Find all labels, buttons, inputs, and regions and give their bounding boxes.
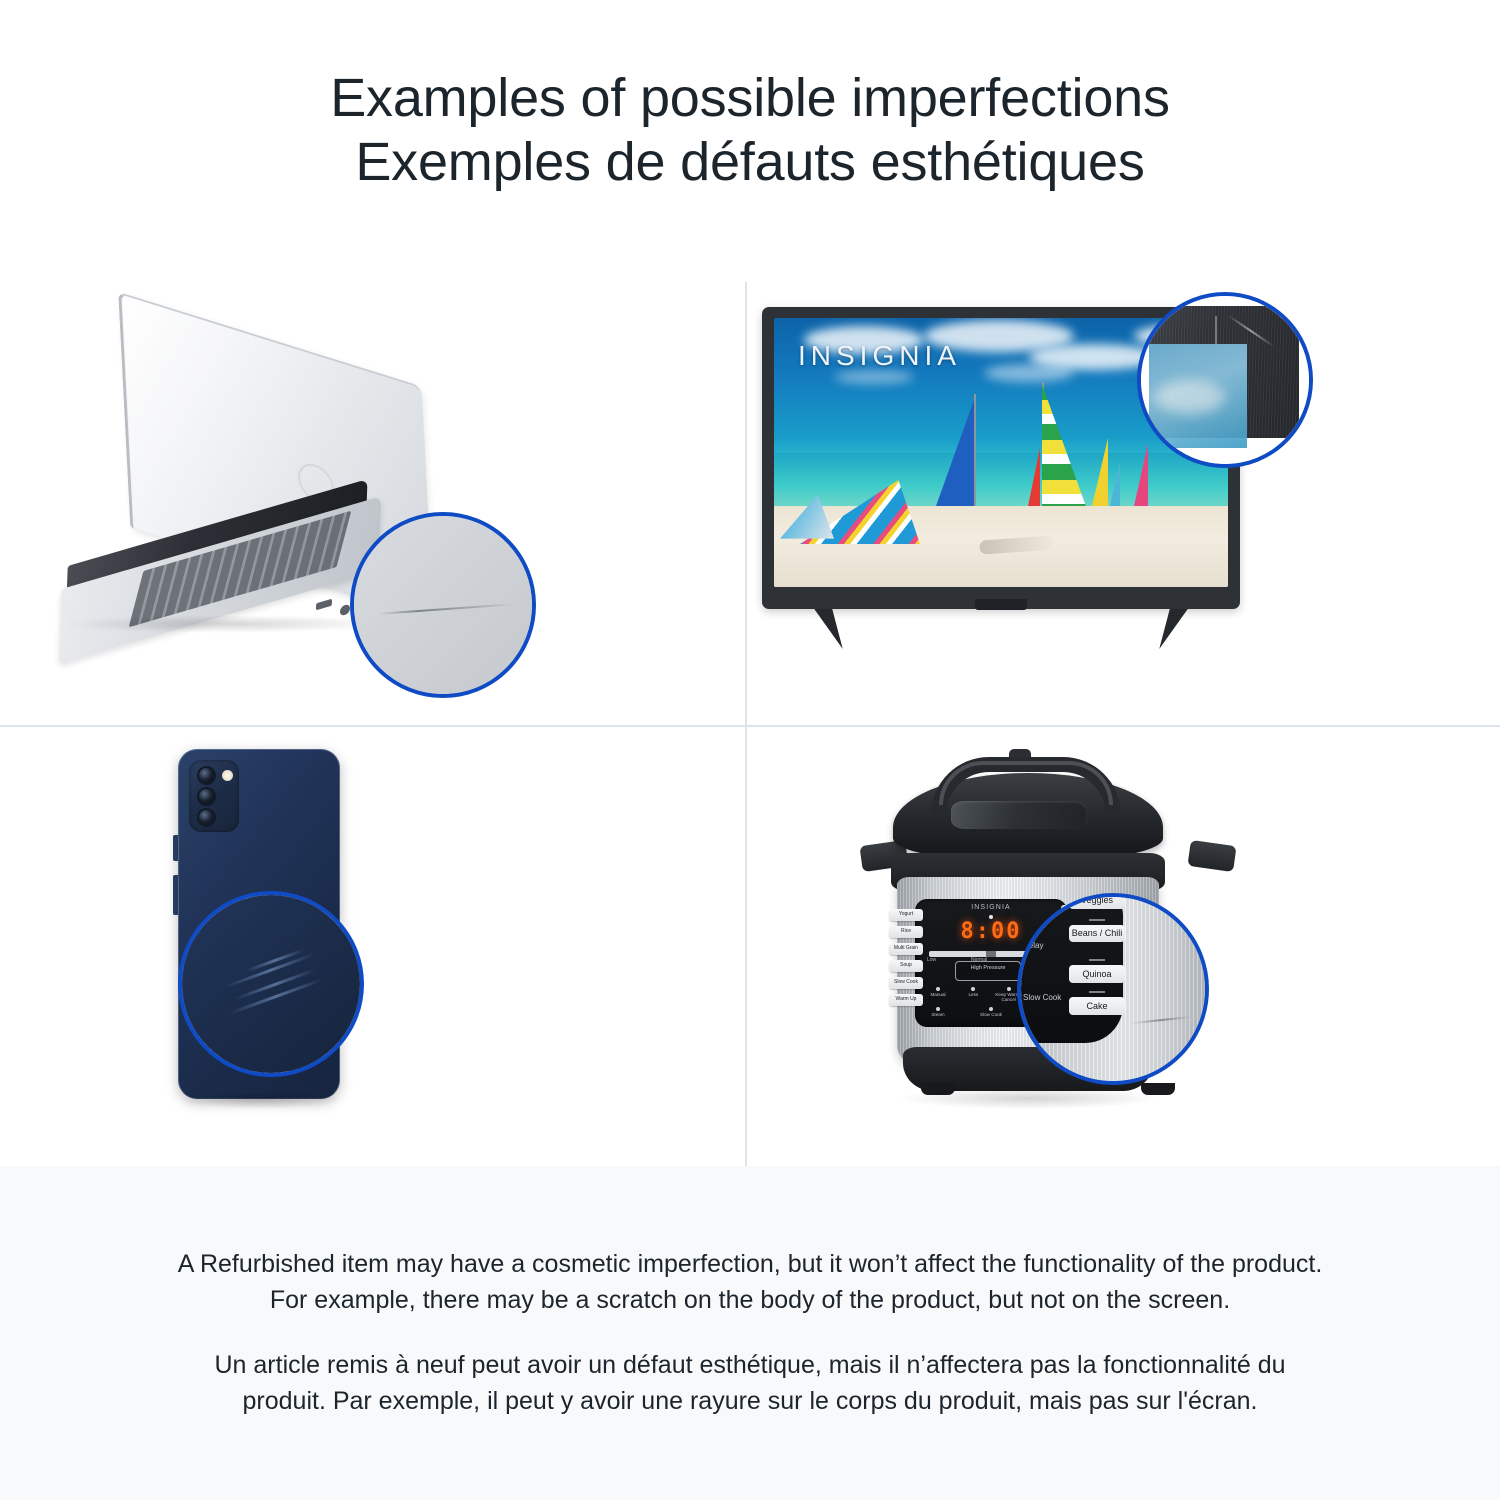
laptop-usb-port: [316, 599, 332, 611]
tv-logo-nub: [975, 599, 1027, 610]
cooker-key-manual[interactable]: Manual: [923, 987, 953, 1002]
tv-magnified-panel: [1149, 344, 1247, 448]
cooker-button[interactable]: Slow Cook: [889, 977, 923, 989]
tv-leg-left: [814, 609, 852, 649]
cooker-buttons-left: Yogurt Rice Multi Grain Soup Slow Cook W…: [889, 909, 923, 1011]
sailboat-sail-cyan: [1110, 462, 1120, 506]
cooker-key-steam[interactable]: Steam: [923, 1007, 953, 1017]
cooker-key-label: Steam: [931, 1012, 944, 1017]
tv-magnified-bezel: [1149, 306, 1299, 438]
cloud-icon: [834, 370, 914, 384]
page-title-fr: Exemples de défauts esthétiques: [355, 131, 1144, 195]
cooker-handle-right: [1187, 840, 1236, 872]
cooker-pressure-indicator: High Pressure: [955, 961, 1021, 981]
tv-bezel-seam: [1215, 316, 1217, 346]
cooker-level-label-low: Low: [927, 957, 936, 963]
cooker-button[interactable]: Warm Up: [889, 994, 923, 1006]
sailboat-sail-yellow: [1092, 438, 1108, 506]
tv-stand: [762, 609, 1240, 657]
cooker-magnifier-circle: Delay Slow Cook Veggies Beans / Chili Qu…: [1017, 893, 1209, 1085]
examples-grid: INSIGNIA: [0, 282, 1500, 1166]
cooker-button[interactable]: Soup: [889, 960, 923, 972]
cooker-button[interactable]: Rice: [889, 926, 923, 938]
footer-paragraph-en: A Refurbished item may have a cosmetic i…: [170, 1247, 1330, 1318]
tv-brand-logo: INSIGNIA: [798, 340, 961, 372]
example-cell-pressure-cooker: INSIGNIA 8:00 Low Normal More High Press…: [747, 727, 1500, 1166]
infographic-page: Examples of possible imperfections Exemp…: [0, 0, 1500, 1500]
cooker-key-slow-cook[interactable]: Slow Cook: [976, 1007, 1006, 1017]
footer-paragraph-fr: Un article remis à neuf peut avoir un dé…: [170, 1348, 1330, 1419]
cooker-pressure-text: High Pressure: [956, 962, 1020, 972]
phone-camera-module: [189, 760, 239, 832]
example-cell-laptop: [0, 282, 747, 727]
page-title-en: Examples of possible imperfections: [330, 67, 1170, 131]
cooker-display-value: 8:00: [961, 919, 1022, 944]
key-led-icon: [936, 1007, 940, 1011]
smartphone-illustration: [0, 727, 745, 1166]
cooker-button[interactable]: Multi Grain: [889, 943, 923, 955]
tv-leg-right: [1150, 609, 1188, 649]
cooker-magnified-surface: Delay Slow Cook Veggies Beans / Chili Qu…: [1021, 897, 1205, 1081]
sailboat-sail-blue: [936, 400, 974, 506]
laptop-illustration: [0, 282, 745, 725]
cloud-icon: [1155, 380, 1225, 414]
camera-lens-icon: [197, 808, 216, 827]
camera-flash-icon: [222, 770, 233, 781]
cooker-magnified-side-label: Slow Cook: [1023, 993, 1061, 1002]
cooker-button[interactable]: Yogurt: [889, 909, 923, 921]
key-led-icon: [971, 987, 975, 991]
sailboat-mast: [974, 394, 976, 506]
cooker-shadow: [901, 1091, 1157, 1109]
cooker-magnified-divider: [1089, 959, 1105, 961]
key-led-icon: [989, 1007, 993, 1011]
cooker-key-label: Less: [968, 992, 978, 997]
cooker-magnified-button[interactable]: Quinoa: [1069, 965, 1125, 983]
example-cell-television: INSIGNIA: [747, 282, 1500, 727]
key-led-icon: [936, 987, 940, 991]
phone-magnifier-circle: [178, 891, 364, 1077]
cloud-icon: [984, 364, 1074, 382]
television-illustration: INSIGNIA: [747, 282, 1500, 725]
sailboat-sail-red: [1028, 448, 1040, 506]
tv-magnified-surface: [1141, 296, 1309, 464]
example-cell-smartphone: [0, 727, 747, 1166]
pressure-cooker-illustration: INSIGNIA 8:00 Low Normal More High Press…: [747, 727, 1500, 1166]
cooker-magnified-side-label: Delay: [1023, 941, 1043, 950]
cooker-brand-label: INSIGNIA: [971, 904, 1011, 911]
cooker-key-label: Slow Cook: [980, 1012, 1002, 1017]
cooker-key-less[interactable]: Less: [958, 987, 988, 1002]
camera-lens-icon: [197, 766, 216, 785]
cooker-key-label: Manual: [930, 992, 945, 997]
laptop-magnifier-circle: [350, 512, 536, 698]
footer-description: A Refurbished item may have a cosmetic i…: [0, 1166, 1500, 1500]
cooker-magnified-button[interactable]: Beans / Chili: [1069, 925, 1125, 942]
phone-shadow: [180, 1093, 340, 1109]
cooker-magnified-divider: [1089, 991, 1105, 993]
laptop-shadow: [58, 615, 397, 633]
cooker-magnified-divider: [1089, 919, 1105, 921]
camera-lens-icon: [197, 787, 216, 806]
cooker-magnified-button[interactable]: Cake: [1069, 997, 1125, 1015]
title-block: Examples of possible imperfections Exemp…: [0, 0, 1500, 262]
cooker-handle-highlight: [939, 761, 1113, 805]
key-led-icon: [1007, 987, 1011, 991]
tv-magnifier-circle: [1137, 292, 1313, 468]
